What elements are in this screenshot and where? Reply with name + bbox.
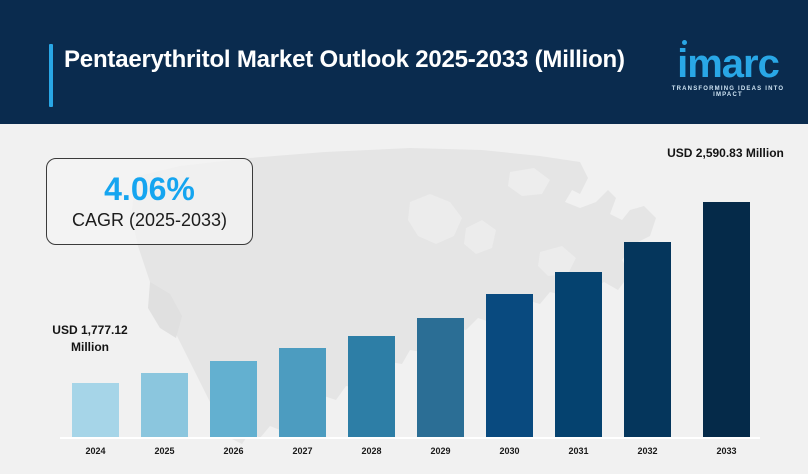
bar-2025 bbox=[141, 373, 188, 437]
x-axis-label-2028: 2028 bbox=[337, 446, 406, 456]
infographic-page: Pentaerythritol Market Outlook 2025-2033… bbox=[0, 0, 808, 474]
bar-2031 bbox=[555, 272, 602, 437]
x-axis-label-2027: 2027 bbox=[268, 446, 337, 456]
bar-2029 bbox=[417, 318, 464, 437]
bar-group: 2031 bbox=[555, 0, 602, 474]
x-axis-label-2033: 2033 bbox=[692, 446, 761, 456]
bar-group: 2029 bbox=[417, 0, 464, 474]
bar-group: 2026 bbox=[210, 0, 257, 474]
bar-2024 bbox=[72, 383, 119, 437]
x-axis-label-2032: 2032 bbox=[613, 446, 682, 456]
bar-group: 2028 bbox=[348, 0, 395, 474]
bar-2026 bbox=[210, 361, 257, 437]
bar-group: 2027 bbox=[279, 0, 326, 474]
x-axis-label-2030: 2030 bbox=[475, 446, 544, 456]
x-axis-label-2029: 2029 bbox=[406, 446, 475, 456]
bar-group: 2030 bbox=[486, 0, 533, 474]
bar-group: 2032 bbox=[624, 0, 671, 474]
x-axis-label-2031: 2031 bbox=[544, 446, 613, 456]
bar-group: 2024 bbox=[72, 0, 119, 474]
bar-2028 bbox=[348, 336, 395, 437]
x-axis-label-2025: 2025 bbox=[130, 446, 199, 456]
bar-2032 bbox=[624, 242, 671, 437]
bar-2033 bbox=[703, 202, 750, 437]
bar-group: 2033 bbox=[703, 0, 750, 474]
x-axis-label-2024: 2024 bbox=[61, 446, 130, 456]
bar-chart: 2024202520262027202820292030203120322033 bbox=[0, 0, 808, 474]
bar-2027 bbox=[279, 348, 326, 437]
x-axis-label-2026: 2026 bbox=[199, 446, 268, 456]
bar-group: 2025 bbox=[141, 0, 188, 474]
bar-2030 bbox=[486, 294, 533, 437]
